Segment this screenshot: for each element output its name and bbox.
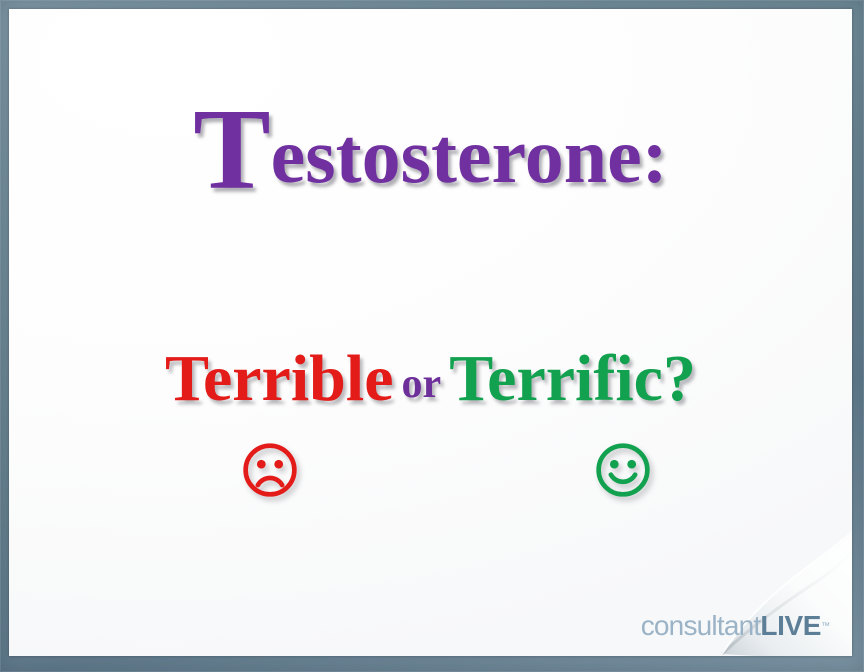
smiling-face-icon [594,441,652,499]
title-text: Testosterone: [193,104,667,197]
face-icons-row [9,437,852,513]
slide-page: Testosterone: TerribleorTerrific? [9,9,852,656]
page-title: Testosterone: [9,104,852,197]
logo-word-consultant: consultant [641,610,761,641]
logo-word-live: LIVE [760,610,821,641]
subtitle: TerribleorTerrific? [9,346,852,412]
subtitle-word-terrific: Terrific? [449,342,696,415]
frowning-face-icon [241,441,299,499]
slide-border-frame: Testosterone: TerribleorTerrific? [0,0,864,672]
logo-trademark-symbol: ™ [821,621,830,631]
title-remainder: estosterone: [271,112,668,199]
consultant-live-logo: consultantLIVE™ [641,612,830,640]
subtitle-word-or: or [394,361,450,407]
subtitle-word-terrible: Terrible [165,342,394,415]
title-dropcap: T [193,86,270,214]
